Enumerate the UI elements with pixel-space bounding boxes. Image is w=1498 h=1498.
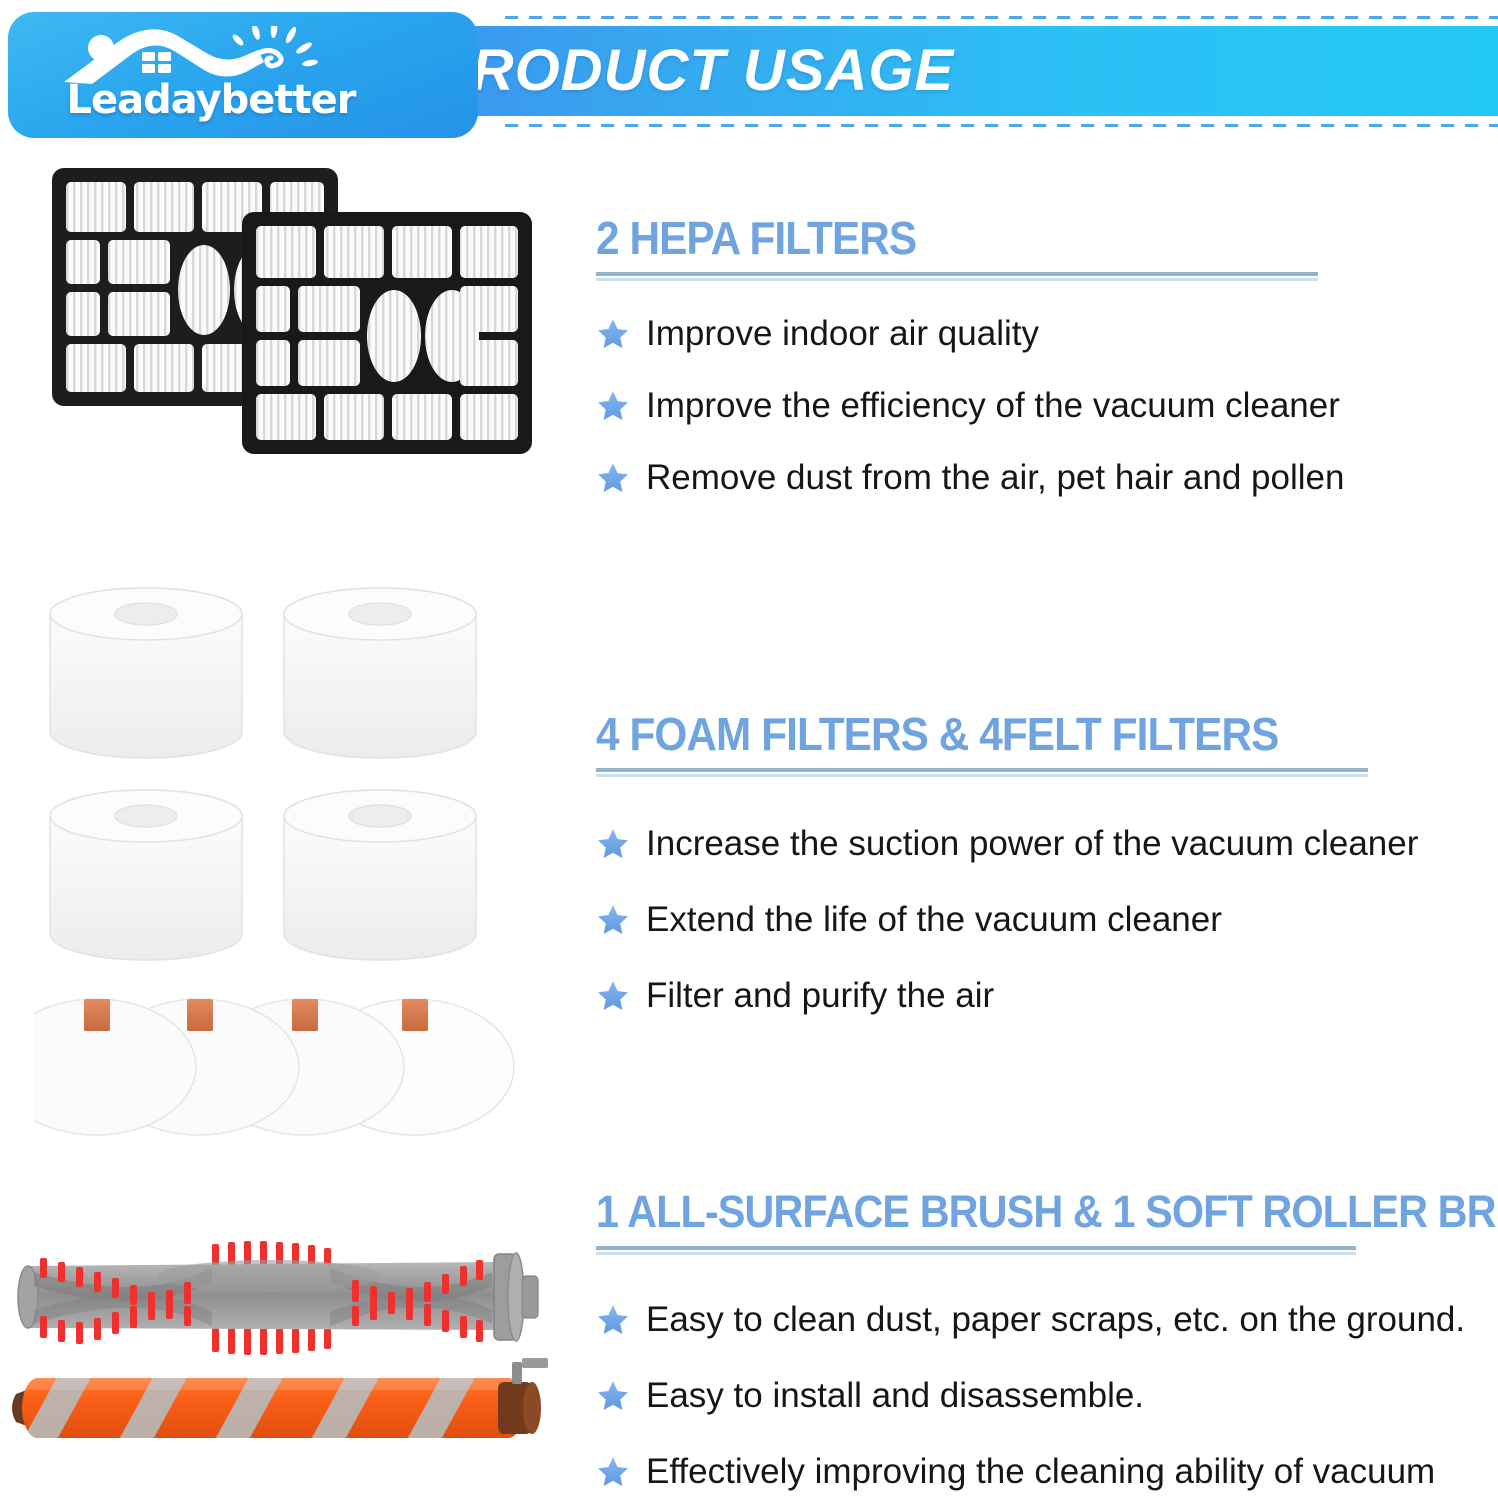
foam-and-felt-filters-image (34, 578, 534, 978)
list-item: Filter and purify the air (596, 973, 1476, 1019)
section-divider (596, 768, 1368, 777)
star-bullet-icon (596, 903, 630, 937)
list-item: Extend the life of the vacuum cleaner (596, 897, 1476, 943)
list-item-text: Easy to clean dust, paper scraps, etc. o… (646, 1297, 1465, 1343)
list-item: Easy to install and disassemble. (596, 1373, 1496, 1419)
list-item: Remove dust from the air, pet hair and p… (596, 455, 1456, 501)
list-item-text: Remove dust from the air, pet hair and p… (646, 455, 1344, 501)
star-bullet-icon (596, 317, 630, 351)
star-bullet-icon (596, 979, 630, 1013)
list-item: Increase the suction power of the vacuum… (596, 821, 1476, 867)
section-divider (596, 272, 1318, 281)
section-heading: 1 ALL-SURFACE BRUSH & 1 SOFT ROLLER BRUS… (596, 1186, 1424, 1238)
star-bullet-icon (596, 827, 630, 861)
section-heading: 4 FOAM FILTERS & 4FELT FILTERS (596, 708, 1406, 760)
star-bullet-icon (596, 389, 630, 423)
section-brushes: 1 ALL-SURFACE BRUSH & 1 SOFT ROLLER BRUS… (596, 1186, 1496, 1498)
dashed-rule-top (505, 16, 1498, 19)
brand-logo: Leadaybetter (8, 12, 478, 138)
list-item-text: Increase the suction power of the vacuum… (646, 821, 1418, 867)
list-item: Improve indoor air quality (596, 311, 1456, 357)
list-item-text: Effectively improving the cleaning abili… (646, 1449, 1466, 1498)
page-title: PRODUCT USAGE (432, 36, 954, 106)
star-bullet-icon (596, 461, 630, 495)
bullet-list: Increase the suction power of the vacuum… (596, 821, 1476, 1019)
list-item-text: Filter and purify the air (646, 973, 994, 1019)
section-divider (596, 1246, 1356, 1255)
star-bullet-icon (596, 1303, 630, 1337)
bullet-list: Improve indoor air quality Improve the e… (596, 311, 1456, 501)
dashed-rule-bottom (505, 124, 1498, 127)
all-surface-brush-image (0, 1232, 560, 1360)
bullet-list: Easy to clean dust, paper scraps, etc. o… (596, 1297, 1496, 1498)
star-bullet-icon (596, 1379, 630, 1413)
hepa-filter-pair-image (46, 160, 546, 490)
brand-name: Leadaybetter (46, 74, 376, 126)
list-item-text: Easy to install and disassemble. (646, 1373, 1144, 1419)
star-bullet-icon (596, 1455, 630, 1489)
section-hepa: 2 HEPA FILTERS Improve indoor air qualit… (596, 212, 1456, 527)
list-item-text: Improve indoor air quality (646, 311, 1039, 357)
list-item: Improve the efficiency of the vacuum cle… (596, 383, 1456, 429)
list-item: Easy to clean dust, paper scraps, etc. o… (596, 1297, 1496, 1343)
product-usage-infographic: PRODUCT USAGE Leadaybetter (0, 0, 1498, 1498)
felt-filter-discs-image (34, 972, 544, 1152)
list-item-text: Extend the life of the vacuum cleaner (646, 897, 1222, 943)
header: PRODUCT USAGE Leadaybetter (0, 0, 1498, 140)
list-item-text: Improve the efficiency of the vacuum cle… (646, 383, 1340, 429)
section-heading: 2 HEPA FILTERS (596, 212, 1387, 264)
soft-roller-brush-image (0, 1356, 560, 1464)
section-foam-felt: 4 FOAM FILTERS & 4FELT FILTERS Increase … (596, 708, 1476, 1045)
list-item: Effectively improving the cleaning abili… (596, 1449, 1496, 1498)
